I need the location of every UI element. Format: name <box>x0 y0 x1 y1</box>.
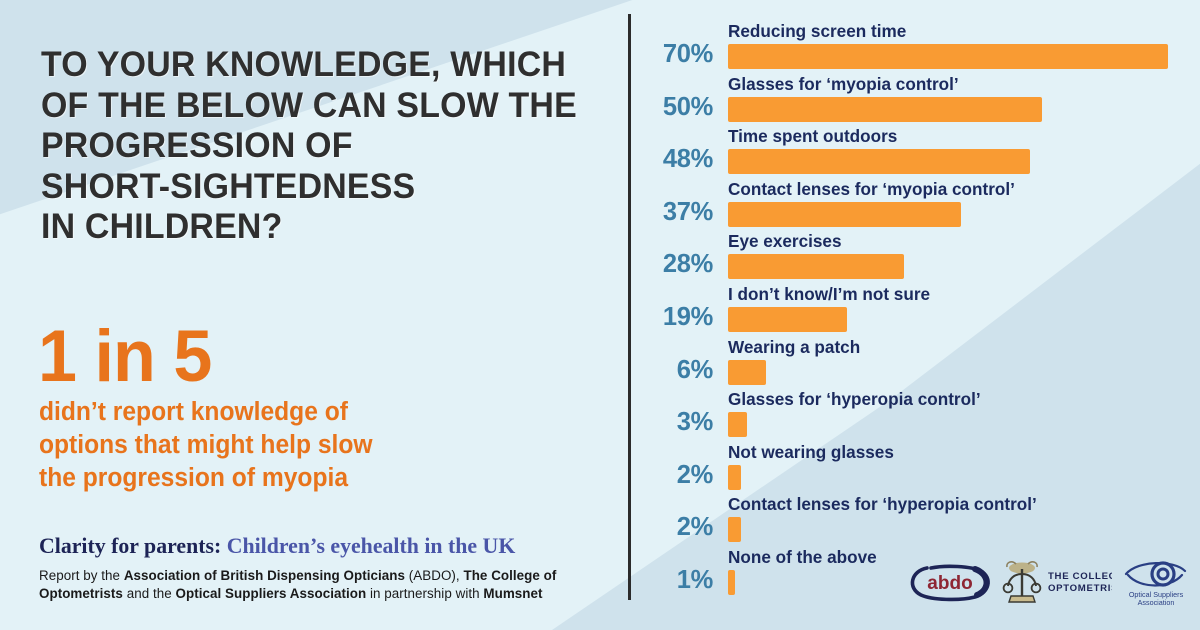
chart-row-bar <box>728 412 747 437</box>
chart-row-value: 28% <box>629 250 713 279</box>
chart-row-bar <box>728 360 766 385</box>
credit-segment: and the <box>123 586 176 601</box>
chart-row-bar <box>728 202 961 227</box>
credit-segment: Report by the <box>39 568 124 583</box>
left-panel: TO YOUR KNOWLEDGE, WHICH OF THE BELOW CA… <box>0 0 628 630</box>
chart-row-bar <box>728 254 904 279</box>
report-title-prefix: Clarity for parents: <box>39 533 227 558</box>
chart-row: Wearing a patch6% <box>629 338 1200 390</box>
headline-line: SHORT-SIGHTEDNESS <box>41 166 590 207</box>
report-title-subject: Children’s eyehealth in the UK <box>227 533 516 558</box>
chart-row: None of the above1% <box>629 548 1200 600</box>
chart-row-label: Wearing a patch <box>728 337 860 358</box>
key-stat-line: options that might help slow <box>39 429 444 462</box>
chart-row: Glasses for ‘hyperopia control’3% <box>629 390 1200 442</box>
chart-row-value: 3% <box>629 408 713 437</box>
page-title: TO YOUR KNOWLEDGE, WHICH OF THE BELOW CA… <box>41 44 590 247</box>
chart-row: Not wearing glasses2% <box>629 443 1200 495</box>
chart-row-value: 37% <box>629 198 713 227</box>
chart-row-value: 2% <box>629 513 713 542</box>
chart-row: Reducing screen time70% <box>629 22 1200 74</box>
chart-row: Contact lenses for ‘hyperopia control’2% <box>629 495 1200 547</box>
chart-row-value: 19% <box>629 303 713 332</box>
credit-segment: in partnership with <box>366 586 483 601</box>
chart-row-bar <box>728 465 741 490</box>
chart-row-label: Not wearing glasses <box>728 442 894 463</box>
chart-row-value: 48% <box>629 145 713 174</box>
chart-row-value: 50% <box>629 93 713 122</box>
chart-row: I don’t know/I’m not sure19% <box>629 285 1200 337</box>
chart-row: Glasses for ‘myopia control’50% <box>629 75 1200 127</box>
chart-row-value: 6% <box>629 356 713 385</box>
credit-segment: (ABDO), <box>405 568 463 583</box>
credit-org-abdo: Association of British Dispensing Optici… <box>124 568 405 583</box>
chart-row: Eye exercises28% <box>629 232 1200 284</box>
report-credit: Report by the Association of British Dis… <box>39 567 605 602</box>
chart-row-bar <box>728 307 847 332</box>
report-title: Clarity for parents: Children’s eyehealt… <box>39 533 515 559</box>
chart-row-bar <box>728 517 741 542</box>
key-stat-description: didn’t report knowledge of options that … <box>39 396 444 495</box>
credit-org-mumsnet: Mumsnet <box>483 586 542 601</box>
key-stat-value: 1 in 5 <box>38 320 211 393</box>
chart-row-label: Contact lenses for ‘hyperopia control’ <box>728 494 1037 515</box>
headline-line: TO YOUR KNOWLEDGE, WHICH <box>41 44 590 85</box>
infographic-canvas: TO YOUR KNOWLEDGE, WHICH OF THE BELOW CA… <box>0 0 1200 630</box>
chart-row-label: None of the above <box>728 547 877 568</box>
chart-row-label: Glasses for ‘hyperopia control’ <box>728 389 981 410</box>
chart-row: Contact lenses for ‘myopia control’37% <box>629 180 1200 232</box>
chart-row: Time spent outdoors48% <box>629 127 1200 179</box>
chart-row-bar <box>728 97 1042 122</box>
chart-row-label: Glasses for ‘myopia control’ <box>728 74 959 95</box>
chart-row-label: Contact lenses for ‘myopia control’ <box>728 179 1015 200</box>
chart-row-label: I don’t know/I’m not sure <box>728 284 930 305</box>
chart-row-bar <box>728 570 735 595</box>
chart-row-label: Eye exercises <box>728 231 842 252</box>
key-stat-line: the progression of myopia <box>39 462 444 495</box>
headline-line: PROGRESSION OF <box>41 125 590 166</box>
chart-row-bar <box>728 44 1168 69</box>
chart-row-value: 2% <box>629 461 713 490</box>
headline-line: OF THE BELOW CAN SLOW THE <box>41 85 590 126</box>
chart-row-value: 70% <box>629 40 713 69</box>
chart-row-bar <box>728 149 1030 174</box>
bar-chart: Reducing screen time70%Glasses for ‘myop… <box>629 0 1200 630</box>
headline-line: IN CHILDREN? <box>41 206 590 247</box>
credit-org-osa: Optical Suppliers Association <box>176 586 367 601</box>
chart-row-value: 1% <box>629 566 713 595</box>
key-stat-line: didn’t report knowledge of <box>39 396 444 429</box>
chart-row-label: Reducing screen time <box>728 21 906 42</box>
chart-row-label: Time spent outdoors <box>728 126 897 147</box>
